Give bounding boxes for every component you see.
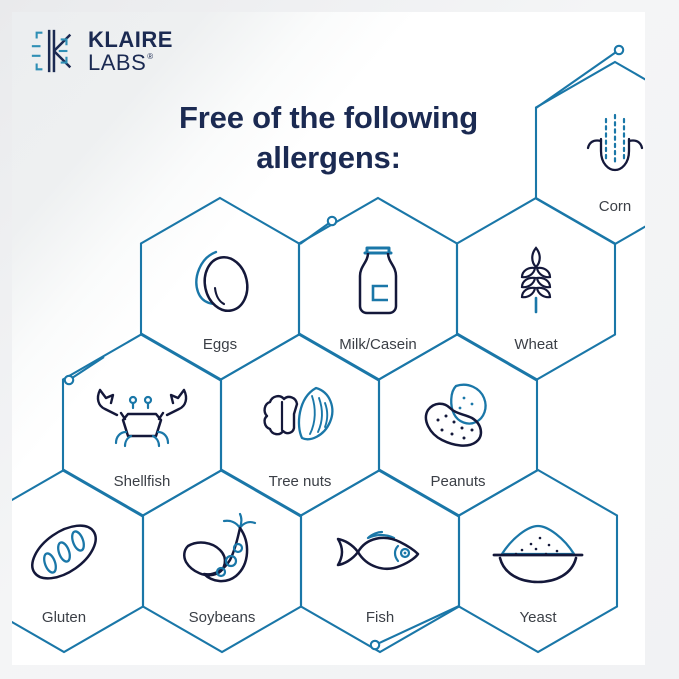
allergen-label-shellfish: Shellfish <box>114 473 171 490</box>
allergen-label-soybeans: Soybeans <box>189 609 256 626</box>
allergen-label-milk: Milk/Casein <box>339 336 417 353</box>
allergen-label-treenuts: Tree nuts <box>269 473 332 490</box>
allergen-label-yeast: Yeast <box>520 609 557 626</box>
yeast-icon <box>494 526 582 582</box>
eggs-icon <box>196 252 252 315</box>
crab-icon <box>98 390 186 446</box>
wheat-icon <box>522 248 550 312</box>
soybeans-icon <box>184 514 255 581</box>
connector-dot-top-right-node <box>615 46 623 54</box>
connector-line-eggs-right-node <box>300 221 332 244</box>
corn-icon <box>588 115 642 170</box>
tree-nuts-icon <box>265 388 333 439</box>
milk-bottle-icon <box>360 248 396 313</box>
gluten-icon <box>23 515 105 589</box>
connector-line-left-node <box>69 357 104 380</box>
connector-dot-bottom-node <box>371 641 379 649</box>
allergen-label-wheat: Wheat <box>514 336 557 353</box>
connector-dot-eggs-right-node <box>328 217 336 225</box>
connector-dot-left-node <box>65 376 73 384</box>
white-card: KLAIRE LABS ® Free of the following alle… <box>12 12 645 665</box>
allergen-label-gluten: Gluten <box>42 609 86 626</box>
allergen-label-corn: Corn <box>599 198 632 215</box>
allergen-label-eggs: Eggs <box>203 336 237 353</box>
allergen-label-peanuts: Peanuts <box>430 473 485 490</box>
peanuts-icon <box>426 385 486 446</box>
infographic-root: KLAIRE LABS ® Free of the following alle… <box>0 0 679 679</box>
fish-icon <box>338 532 418 569</box>
connector-line-top-right-node <box>536 50 619 108</box>
allergen-label-fish: Fish <box>366 609 394 626</box>
